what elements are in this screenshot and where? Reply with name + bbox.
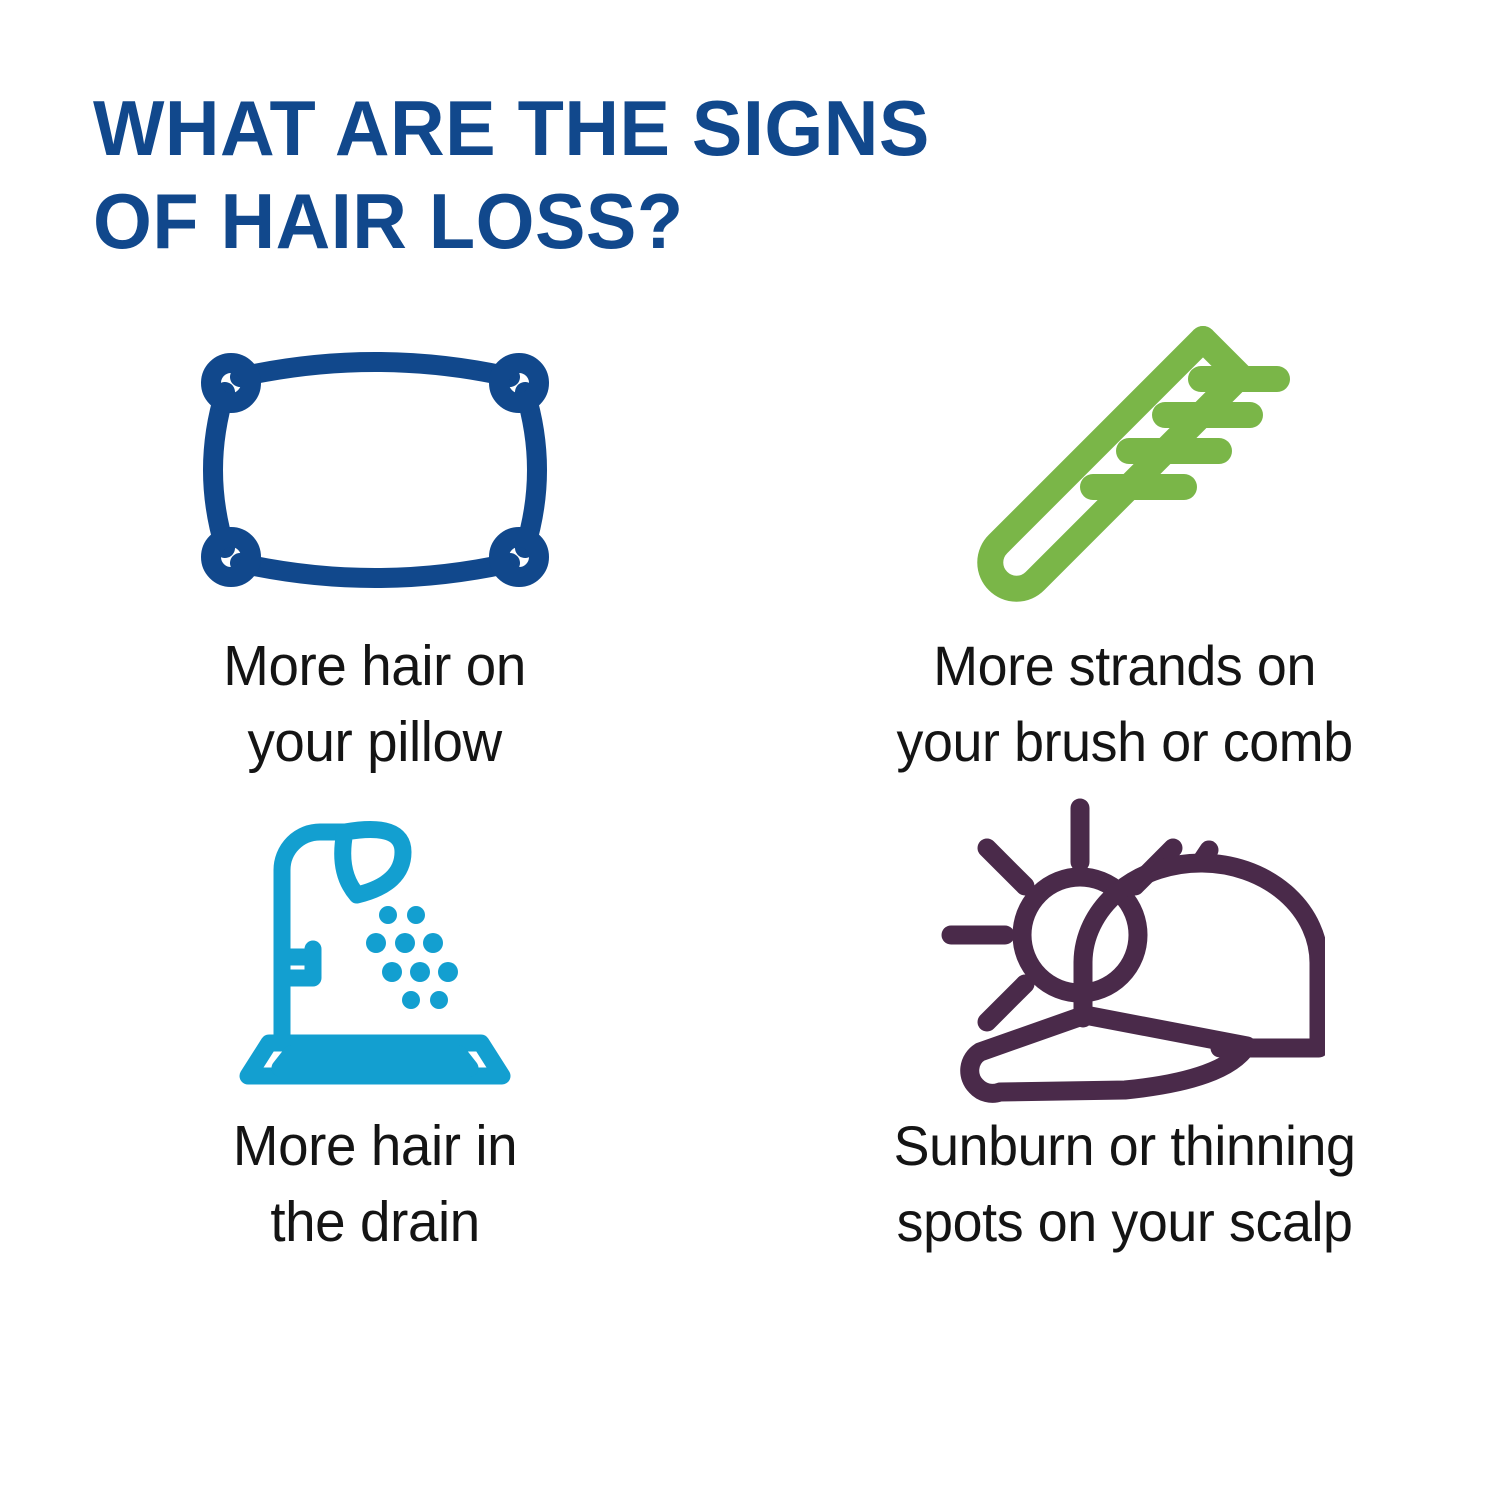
sign-caption-scalp: Sunburn or thinning spots on your scalp — [894, 1108, 1356, 1260]
page-title-line-2: OF HAIR LOSS? — [93, 175, 1257, 268]
sun-cap-icon — [925, 790, 1325, 1110]
comb-icon-wrap — [750, 320, 1500, 620]
sign-caption-shower: More hair in the drain — [233, 1108, 517, 1260]
page-title-line-1: WHAT ARE THE SIGNS — [93, 82, 1257, 175]
water-droplets — [366, 906, 458, 1009]
comb-icon — [960, 305, 1290, 635]
sign-caption-pillow: More hair on your pillow — [224, 628, 527, 780]
shower-icon-wrap — [0, 800, 750, 1100]
signs-grid: More hair on your pillow — [0, 320, 1500, 1480]
sign-card-shower: More hair in the drain — [0, 800, 750, 1280]
sign-card-comb: More strands on your brush or comb — [750, 320, 1500, 800]
page-title: WHAT ARE THE SIGNS OF HAIR LOSS? — [93, 82, 1293, 268]
sun-cap-icon-wrap — [750, 800, 1500, 1100]
shower-icon — [225, 800, 525, 1100]
sign-caption-comb: More strands on your brush or comb — [897, 628, 1353, 780]
pillow-icon-wrap — [0, 320, 750, 620]
sign-card-pillow: More hair on your pillow — [0, 320, 750, 800]
pillow-icon — [195, 335, 555, 605]
infographic-page: WHAT ARE THE SIGNS OF HAIR LOSS? — [0, 0, 1500, 1500]
sign-card-scalp: Sunburn or thinning spots on your scalp — [750, 800, 1500, 1280]
